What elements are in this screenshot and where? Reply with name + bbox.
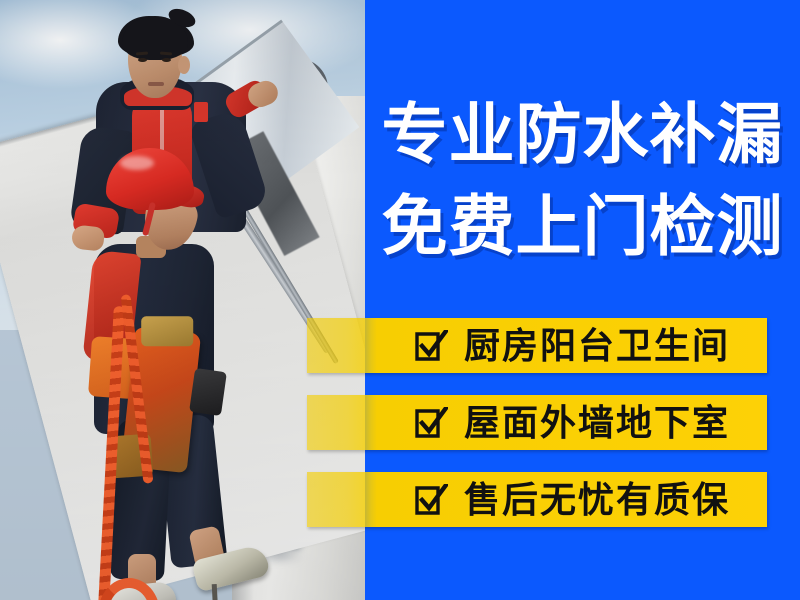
red-safety-helmet bbox=[106, 148, 194, 210]
advertisement-banner: 专业防水补漏 免费上门检测 厨房阳台卫生间 屋面外墙地下室 bbox=[0, 0, 800, 600]
upper-worker-eye-right bbox=[162, 58, 171, 62]
feature-label-2: 屋面外墙地下室 bbox=[464, 404, 730, 442]
upper-worker-hair bbox=[122, 16, 188, 60]
checkbox-checked-icon bbox=[414, 484, 448, 516]
feature-bar-2: 屋面外墙地下室 bbox=[307, 395, 767, 450]
upper-worker-badge bbox=[194, 102, 208, 122]
lower-worker bbox=[88, 148, 278, 578]
checkbox-checked-icon bbox=[414, 330, 448, 362]
upper-worker-mouth bbox=[148, 82, 164, 86]
feature-bar-1: 厨房阳台卫生间 bbox=[307, 318, 767, 373]
feature-label-1: 厨房阳台卫生间 bbox=[464, 327, 730, 365]
hand-tool bbox=[189, 368, 227, 416]
checkbox-checked-icon bbox=[414, 407, 448, 439]
feature-bar-3: 售后无忧有质保 bbox=[307, 472, 767, 527]
feature-label-3: 售后无忧有质保 bbox=[464, 481, 730, 519]
upper-worker-eye-left bbox=[138, 58, 147, 62]
upper-worker-ear bbox=[178, 56, 190, 74]
